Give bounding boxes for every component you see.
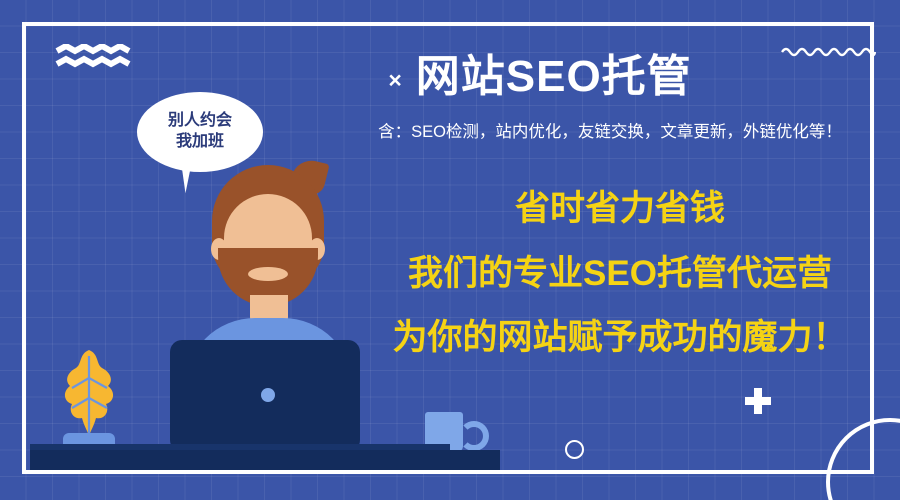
mug-handle — [459, 421, 489, 451]
mouth — [248, 267, 288, 281]
title-text: 网站SEO托管 — [416, 55, 692, 99]
laptop-logo-dot — [261, 388, 275, 402]
seo-promo-banner: × 网站SEO托管 含：SEO检测，站内优化，友链交换，文章更新，外链优化等！ … — [0, 0, 900, 500]
desk — [30, 450, 500, 470]
circle-outline-icon — [826, 418, 900, 500]
slogan-line-1: 省时省力省钱 — [515, 190, 725, 229]
wave-lines-icon — [55, 44, 133, 70]
page-title: × 网站SEO托管 — [330, 48, 750, 106]
speech-bubble: 别人约会 我加班 — [137, 92, 263, 172]
close-icon: × — [388, 69, 401, 92]
slogan-line-2: 我们的专业SEO托管代运营 — [408, 255, 832, 294]
slogan-line-3: 为你的网站赋予成功的魔力！ — [392, 319, 847, 358]
small-circle-outline-icon — [565, 440, 584, 459]
subtitle-text: 含：SEO检测，站内优化，友链交换，文章更新，外链优化等！ — [330, 118, 890, 142]
plant-icon — [58, 348, 120, 438]
speech-bubble-line-1: 别人约会 — [168, 111, 232, 132]
slogan-list: 省时省力省钱 我们的专业SEO托管代运营 为你的网站赋予成功的魔力！ — [360, 190, 880, 358]
squiggle-line-icon — [781, 44, 876, 58]
speech-bubble-line-2: 我加班 — [176, 132, 224, 153]
plus-icon — [745, 388, 771, 414]
